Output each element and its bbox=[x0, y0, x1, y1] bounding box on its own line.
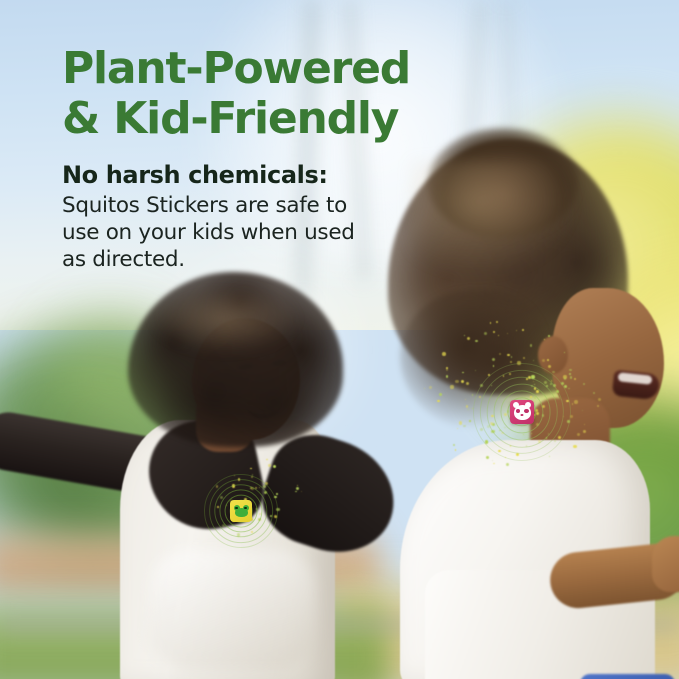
child-right-shorts bbox=[580, 674, 675, 679]
marketing-banner: Plant-Powered & Kid-Friendly No harsh ch… bbox=[0, 0, 679, 679]
child-left bbox=[0, 280, 360, 679]
child-left-hair-highlight bbox=[150, 284, 300, 354]
headline: Plant-Powered & Kid-Friendly bbox=[62, 44, 462, 144]
panda-icon bbox=[514, 405, 531, 420]
frog-icon bbox=[234, 505, 249, 518]
body-text: Squitos Stickers are safe to use on your… bbox=[62, 192, 462, 273]
frog-sticker-halo bbox=[205, 475, 277, 547]
child-left-shirt-fold bbox=[150, 550, 315, 670]
panda-sticker[interactable] bbox=[510, 400, 534, 424]
child-right-fist bbox=[652, 536, 679, 592]
text-block: Plant-Powered & Kid-Friendly No harsh ch… bbox=[62, 44, 462, 273]
subheadline: No harsh chemicals: bbox=[62, 160, 462, 190]
panda-sticker-halo bbox=[474, 364, 570, 460]
frog-sticker[interactable] bbox=[230, 500, 252, 522]
